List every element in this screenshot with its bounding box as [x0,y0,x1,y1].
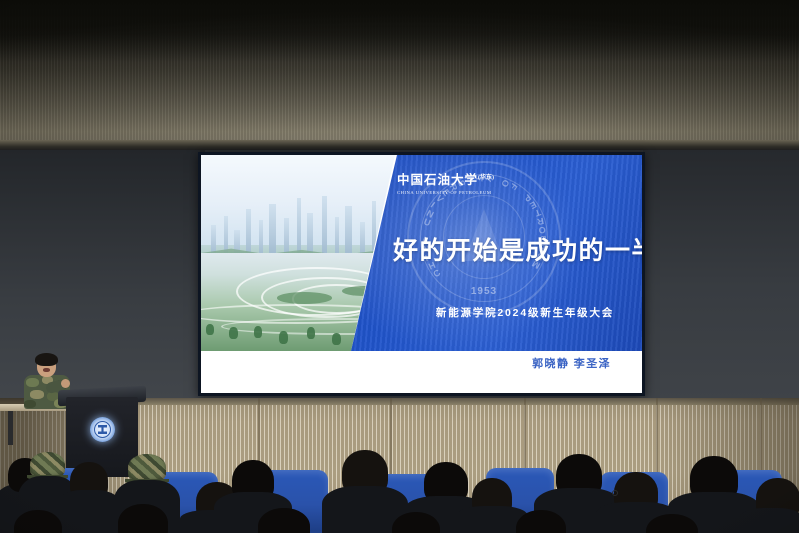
slide-subtitle: 新能源学院2024级新生年级大会 [407,305,642,320]
camo-cap [30,452,65,478]
auditorium-photo: CHINA UNIVERSITY OF PETROLEUM 1953 中国石油大… [0,0,799,533]
upper-wall [0,0,799,146]
slide-presenters: 郭晓静 李圣泽 [532,355,611,371]
projection-screen: CHINA UNIVERSITY OF PETROLEUM 1953 中国石油大… [201,155,642,393]
logo-chinese-suffix: (华东) [478,175,494,181]
university-logo: 中国石油大学(华东) CHINA UNIVERSITY OF PETROLEUM [397,174,532,195]
projection-screen-frame: CHINA UNIVERSITY OF PETROLEUM 1953 中国石油大… [198,152,645,396]
speaker-hand [61,379,70,388]
audience [0,438,799,533]
logo-english-name: CHINA UNIVERSITY OF PETROLEUM [397,190,532,195]
speaker-hair [35,353,58,366]
audience-shoulders [740,508,799,533]
audience-shoulders [56,490,122,533]
logo-chinese-main: 中国石油大学 [397,173,478,187]
audience-head [118,504,168,533]
slide-title: 好的开始是成功的一半 [393,231,642,267]
speaker-mouth [43,368,50,372]
crest-year: 1953 [409,286,559,297]
logo-chinese-name: 中国石油大学(华东) [397,174,532,187]
stage-wall-right [643,150,799,400]
camo-cap [128,454,166,482]
upper-wall-vignette [0,0,799,146]
slide-footer-band: 郭晓静 李圣泽 [201,351,642,393]
